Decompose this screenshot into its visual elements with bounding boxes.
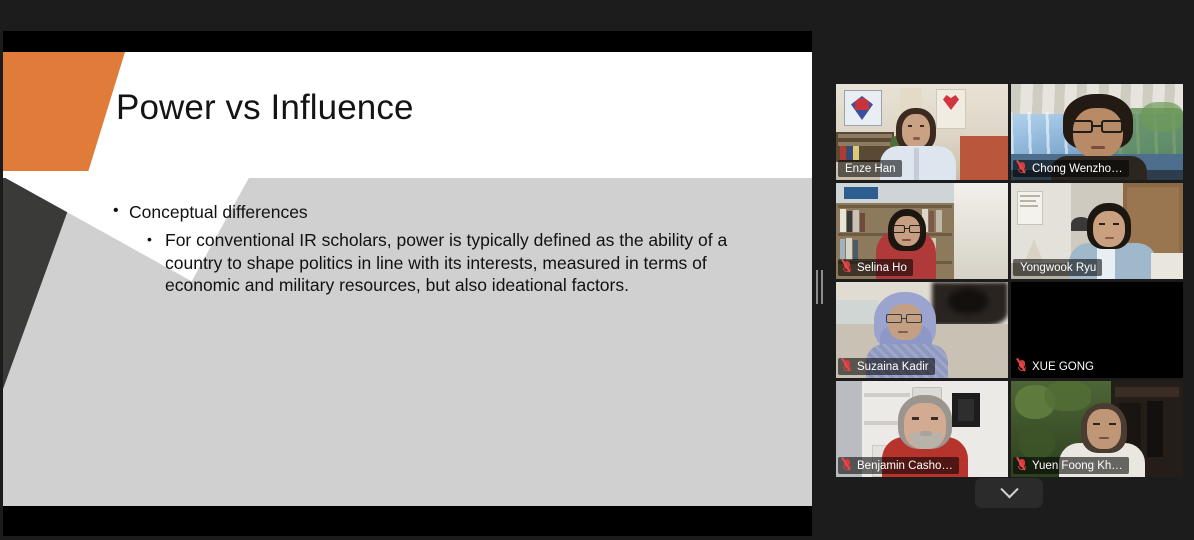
slide-body: Conceptual differences For conventional … [111, 200, 751, 297]
participant-nameplate: Chong Wenzho… [1013, 160, 1129, 177]
slide-white-divider [3, 171, 812, 178]
participant-tile[interactable]: Suzaina Kadir [836, 282, 1008, 378]
mic-muted-icon [1017, 459, 1028, 472]
mic-muted-icon [842, 261, 853, 274]
zoom-meeting-window: Power vs Influence Conceptual difference… [0, 0, 1194, 540]
participant-name: Suzaina Kadir [857, 361, 929, 373]
slide-bullet-level1: Conceptual differences [111, 200, 751, 224]
show-more-participants-button[interactable] [975, 478, 1043, 508]
participant-tile[interactable]: Yuen Foong Kh… [1011, 381, 1183, 477]
chevron-down-icon [1000, 480, 1018, 498]
mic-muted-icon [1017, 162, 1028, 175]
participant-name: Chong Wenzho… [1032, 163, 1123, 175]
participant-name: Benjamin Casho… [857, 460, 953, 472]
shared-screen-area[interactable]: Power vs Influence Conceptual difference… [0, 0, 812, 540]
participant-nameplate: Yongwook Ryu [1013, 259, 1102, 276]
participant-nameplate: Enze Han [838, 160, 902, 177]
vertical-grip-icon [816, 270, 823, 304]
participant-tile[interactable]: Selina Ho [836, 183, 1008, 279]
slide-bullet-level2: For conventional IR scholars, power is t… [145, 229, 751, 297]
mic-muted-icon [842, 459, 853, 472]
participant-nameplate: Benjamin Casho… [838, 457, 959, 474]
participant-tile[interactable]: Chong Wenzho… [1011, 84, 1183, 180]
slide-title: Power vs Influence [116, 88, 414, 128]
participant-tile[interactable]: XUE GONG [1011, 282, 1183, 378]
mic-muted-icon [842, 360, 853, 373]
participant-tile[interactable]: Enze Han [836, 84, 1008, 180]
panel-resize-handle[interactable] [812, 0, 826, 540]
participant-tile-grid: Enze Han [836, 84, 1186, 477]
participant-name: Yongwook Ryu [1020, 262, 1096, 274]
participant-name: Selina Ho [857, 262, 907, 274]
participant-tile[interactable]: Yongwook Ryu [1011, 183, 1183, 279]
mic-muted-icon [1017, 360, 1028, 373]
participant-tile[interactable]: Benjamin Casho… [836, 381, 1008, 477]
participant-name: Yuen Foong Kh… [1032, 460, 1123, 472]
presentation-slide[interactable]: Power vs Influence Conceptual difference… [3, 52, 812, 506]
participant-nameplate: Yuen Foong Kh… [1013, 457, 1129, 474]
participant-filmstrip: Enze Han [826, 0, 1194, 540]
participant-name: XUE GONG [1032, 361, 1094, 373]
participant-nameplate: Suzaina Kadir [838, 358, 935, 375]
participant-name: Enze Han [845, 163, 896, 175]
participant-nameplate: XUE GONG [1013, 358, 1100, 375]
participant-nameplate: Selina Ho [838, 259, 913, 276]
